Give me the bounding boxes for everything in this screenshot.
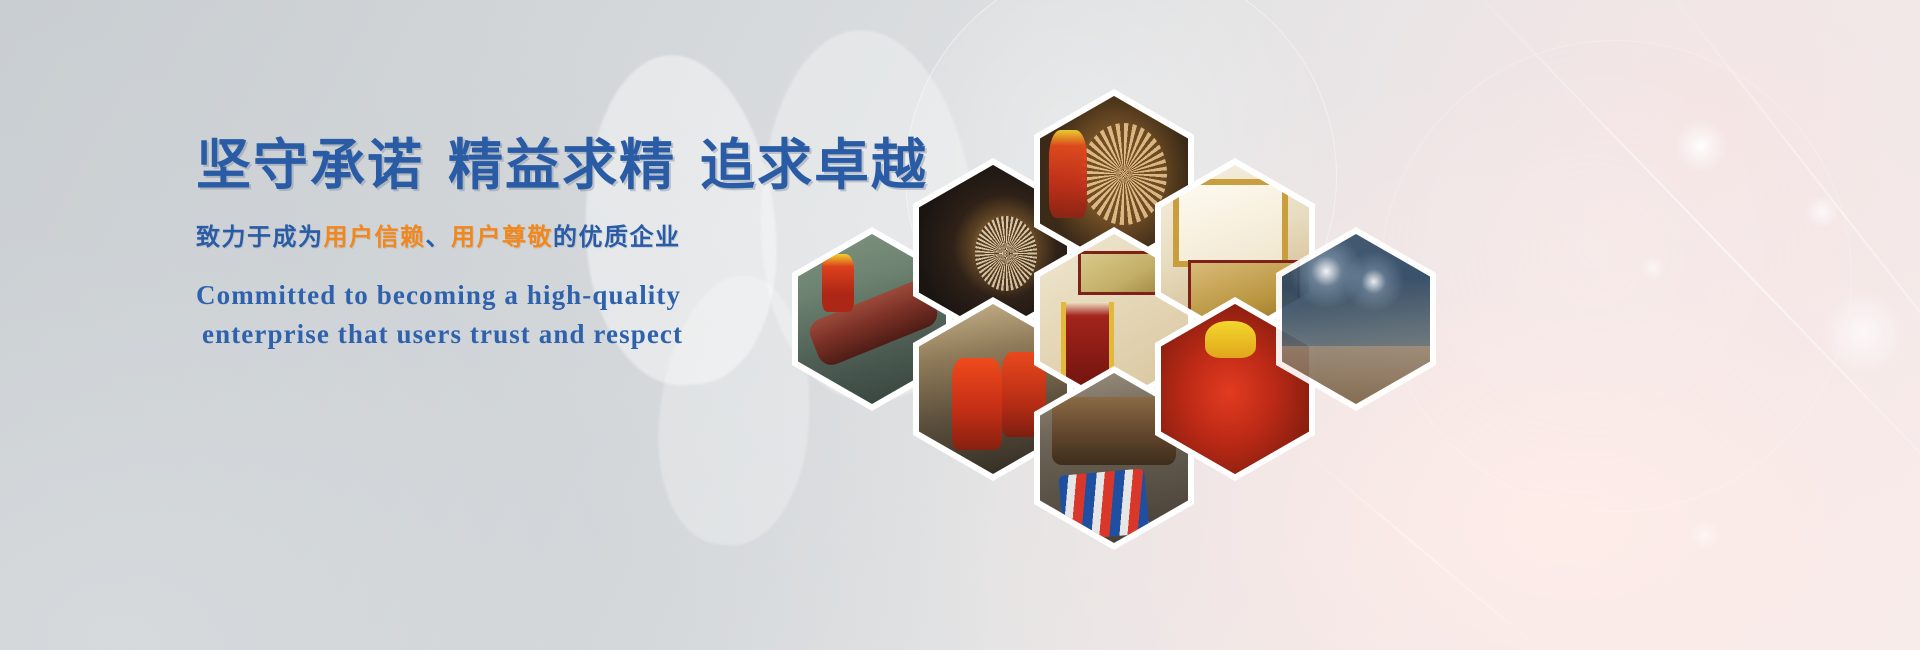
light-glow-1 — [1675, 120, 1727, 172]
subtitle-separator: 、 — [426, 224, 452, 251]
subtitle-highlight-2: 用户尊敬 — [451, 224, 553, 251]
light-glow-4 — [1640, 255, 1666, 281]
headline-part-2: 精益求精 — [448, 134, 676, 196]
hex-workshop-blue-frame — [1282, 234, 1430, 404]
english-line-1: Committed to becoming a high-quality — [196, 280, 681, 310]
subtitle-highlight-1: 用户信赖 — [324, 224, 426, 251]
light-glow-2 — [1805, 195, 1839, 229]
promo-banner: 坚守承诺精益求精追求卓越 致力于成为用户信赖、用户尊敬的优质企业 Committ… — [0, 0, 1920, 650]
light-glow-5 — [1690, 520, 1720, 550]
light-streak-2 — [1629, 0, 1920, 493]
light-glow-3 — [1820, 290, 1906, 376]
watermark-ring-2 — [1380, 40, 1852, 512]
hexagon-photo-gallery — [770, 55, 1430, 515]
headline-part-1: 坚守承诺 — [196, 134, 424, 196]
hex-workshop-blue-photo — [1282, 234, 1430, 404]
subtitle-tail: 的优质企业 — [553, 224, 681, 251]
light-streak-1 — [1454, 0, 1920, 518]
subtitle-lead: 致力于成为 — [196, 224, 324, 251]
